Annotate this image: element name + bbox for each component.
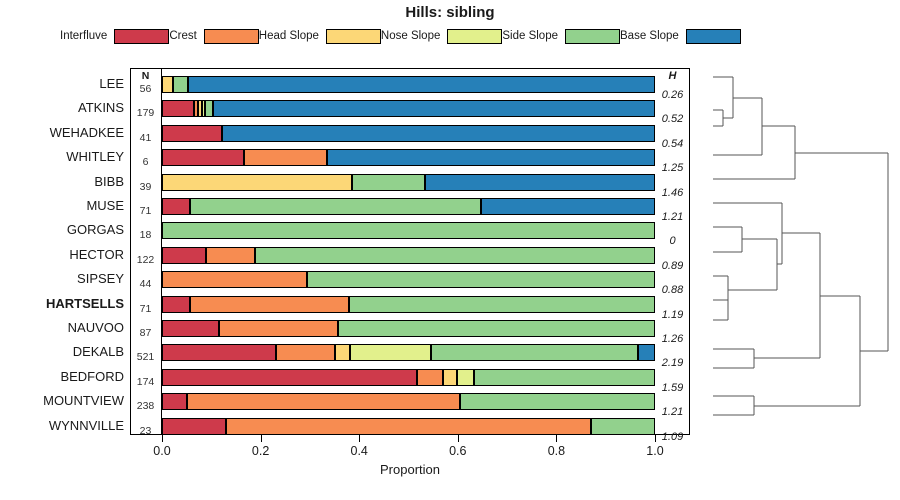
bar-row-bedford — [162, 369, 655, 386]
bar-row-mountview — [162, 393, 655, 410]
h-value-sipsey: 0.88 — [655, 284, 690, 296]
x-tick-label: 0.2 — [252, 444, 269, 458]
x-tick — [458, 435, 459, 442]
h-value-bedford: 1.59 — [655, 382, 690, 394]
x-axis-ticklabels: 0.00.20.40.60.81.0 — [130, 444, 690, 460]
h-value-bibb: 1.46 — [655, 187, 690, 199]
bar-segment-base-slope — [327, 149, 655, 166]
x-tick — [556, 435, 557, 442]
n-value-bibb: 39 — [131, 181, 160, 193]
bar-segment-side-slope — [474, 369, 655, 386]
x-tick-label: 0.8 — [548, 444, 565, 458]
bar-segment-head-slope — [162, 174, 352, 191]
legend-swatch — [565, 29, 620, 44]
legend-swatch — [114, 29, 169, 44]
page-title: Hills: sibling — [0, 4, 900, 21]
n-value-muse: 71 — [131, 205, 160, 217]
legend-swatch — [204, 29, 259, 44]
bar-segment-interfluve — [162, 125, 222, 142]
n-value-wehadkee: 41 — [131, 132, 160, 144]
h-value-wehadkee: 0.54 — [655, 138, 690, 150]
bar-segment-nose-slope — [457, 369, 474, 386]
bar-row-nauvoo — [162, 320, 655, 337]
bar-segment-side-slope — [591, 418, 655, 435]
row-label-hartsells: HARTSELLS — [46, 297, 124, 311]
legend-item-crest: Crest — [169, 29, 258, 44]
row-label-wynnville: WYNNVILLE — [49, 419, 124, 433]
row-label-mountview: MOUNTVIEW — [43, 394, 124, 408]
x-axis-label: Proportion — [130, 462, 690, 477]
n-column: N5617941639711812244718752117423823 — [131, 68, 162, 435]
bar-row-bibb — [162, 174, 655, 191]
bar-segment-crest — [276, 344, 335, 361]
h-value-atkins: 0.52 — [655, 113, 690, 125]
legend-label: Nose Slope — [381, 30, 440, 42]
bar-segment-base-slope — [188, 76, 655, 93]
dendrogram — [690, 68, 895, 435]
n-value-atkins: 179 — [131, 107, 160, 119]
row-label-bibb: BIBB — [94, 175, 124, 189]
bar-segment-side-slope — [173, 76, 188, 93]
row-label-lee: LEE — [99, 77, 124, 91]
bar-segment-base-slope — [222, 125, 655, 142]
bar-segment-head-slope — [443, 369, 457, 386]
bar-row-whitley — [162, 149, 655, 166]
h-column-header: H — [655, 70, 690, 82]
bar-segment-head-slope — [335, 344, 350, 361]
row-label-bedford: BEDFORD — [60, 370, 124, 384]
h-value-nauvoo: 1.26 — [655, 333, 690, 345]
n-value-hector: 122 — [131, 254, 160, 266]
bar-row-dekalb — [162, 344, 655, 361]
x-tick — [261, 435, 262, 442]
legend-item-interfluve: Interfluve — [60, 29, 169, 44]
bar-segment-side-slope — [460, 393, 655, 410]
bar-row-atkins — [162, 100, 655, 117]
legend-item-head-slope: Head Slope — [259, 29, 381, 44]
bar-segment-crest — [190, 296, 350, 313]
n-value-lee: 56 — [131, 83, 160, 95]
bar-segment-crest — [187, 393, 461, 410]
bar-segment-head-slope — [162, 76, 173, 93]
bar-segment-interfluve — [162, 296, 190, 313]
dendrogram-svg — [690, 68, 895, 435]
h-value-dekalb: 2.19 — [655, 357, 690, 369]
row-label-whitley: WHITLEY — [66, 150, 124, 164]
legend-label: Side Slope — [502, 30, 558, 42]
bar-row-muse — [162, 198, 655, 215]
bar-row-wehadkee — [162, 125, 655, 142]
legend-swatch — [447, 29, 502, 44]
row-label-atkins: ATKINS — [78, 101, 124, 115]
bar-segment-interfluve — [162, 198, 190, 215]
bar-segment-nose-slope — [350, 344, 430, 361]
bar-segment-crest — [417, 369, 443, 386]
bar-segment-crest — [206, 247, 254, 264]
row-label-wehadkee: WEHADKEE — [50, 126, 124, 140]
h-value-mountview: 1.21 — [655, 406, 690, 418]
legend-label: Base Slope — [620, 30, 679, 42]
bar-segment-crest — [162, 271, 307, 288]
bar-segment-crest — [219, 320, 338, 337]
row-label-dekalb: DEKALB — [73, 345, 124, 359]
bar-segment-interfluve — [162, 369, 417, 386]
row-label-column: LEEATKINSWEHADKEEWHITLEYBIBBMUSEGORGASHE… — [0, 68, 128, 435]
legend-label: Head Slope — [259, 30, 319, 42]
row-label-muse: MUSE — [86, 199, 124, 213]
bar-segment-crest — [226, 418, 591, 435]
h-value-hartsells: 1.19 — [655, 309, 690, 321]
bar-segment-interfluve — [162, 344, 276, 361]
x-tick-label: 1.0 — [646, 444, 663, 458]
bar-segment-side-slope — [255, 247, 655, 264]
legend-label: Interfluve — [60, 30, 107, 42]
legend-swatch — [326, 29, 381, 44]
bar-segment-crest — [244, 149, 326, 166]
bar-segment-base-slope — [213, 100, 655, 117]
row-label-gorgas: GORGAS — [67, 223, 124, 237]
x-tick — [359, 435, 360, 442]
bar-row-gorgas — [162, 222, 655, 239]
legend-item-nose-slope: Nose Slope — [381, 29, 502, 44]
bar-segment-side-slope — [190, 198, 482, 215]
bar-segment-base-slope — [481, 198, 655, 215]
n-column-header: N — [131, 70, 160, 82]
bar-row-sipsey — [162, 271, 655, 288]
bar-segment-interfluve — [162, 418, 226, 435]
bar-segment-side-slope — [162, 222, 655, 239]
h-value-hector: 0.89 — [655, 260, 690, 272]
bar-segment-interfluve — [162, 247, 206, 264]
bar-segment-interfluve — [162, 393, 187, 410]
bar-segment-base-slope — [425, 174, 655, 191]
legend-label: Crest — [169, 30, 196, 42]
n-value-gorgas: 18 — [131, 229, 160, 241]
h-value-muse: 1.21 — [655, 211, 690, 223]
x-tick-label: 0.4 — [350, 444, 367, 458]
n-value-sipsey: 44 — [131, 278, 160, 290]
bar-segment-side-slope — [205, 100, 213, 117]
bar-row-lee — [162, 76, 655, 93]
bar-segment-interfluve — [162, 149, 244, 166]
bar-row-hartsells — [162, 296, 655, 313]
n-value-mountview: 238 — [131, 400, 160, 412]
h-value-gorgas: 0 — [655, 235, 690, 247]
bar-segment-side-slope — [338, 320, 655, 337]
row-label-sipsey: SIPSEY — [77, 272, 124, 286]
bar-segment-side-slope — [431, 344, 638, 361]
n-value-nauvoo: 87 — [131, 327, 160, 339]
bar-segment-side-slope — [307, 271, 655, 288]
bar-segment-interfluve — [162, 100, 194, 117]
legend-swatch — [686, 29, 741, 44]
x-tick-label: 0.0 — [153, 444, 170, 458]
x-tick-label: 0.6 — [449, 444, 466, 458]
x-tick — [655, 435, 656, 442]
legend: InterfluveCrestHead SlopeNose SlopeSide … — [60, 26, 720, 46]
x-tick — [162, 435, 163, 442]
h-value-whitley: 1.25 — [655, 162, 690, 174]
row-label-nauvoo: NAUVOO — [68, 321, 124, 335]
bar-segment-base-slope — [638, 344, 655, 361]
bar-row-hector — [162, 247, 655, 264]
stacked-bars — [162, 68, 655, 435]
row-label-hector: HECTOR — [69, 248, 124, 262]
bar-segment-side-slope — [352, 174, 425, 191]
bar-segment-interfluve — [162, 320, 219, 337]
legend-item-base-slope: Base Slope — [620, 29, 741, 44]
n-value-bedford: 174 — [131, 376, 160, 388]
bar-row-wynnville — [162, 418, 655, 435]
h-column: H0.260.520.541.251.461.2100.890.881.191.… — [655, 68, 690, 435]
bar-segment-side-slope — [349, 296, 655, 313]
n-value-dekalb: 521 — [131, 351, 160, 363]
n-value-whitley: 6 — [131, 156, 160, 168]
n-value-hartsells: 71 — [131, 303, 160, 315]
h-value-lee: 0.26 — [655, 89, 690, 101]
legend-item-side-slope: Side Slope — [502, 29, 620, 44]
